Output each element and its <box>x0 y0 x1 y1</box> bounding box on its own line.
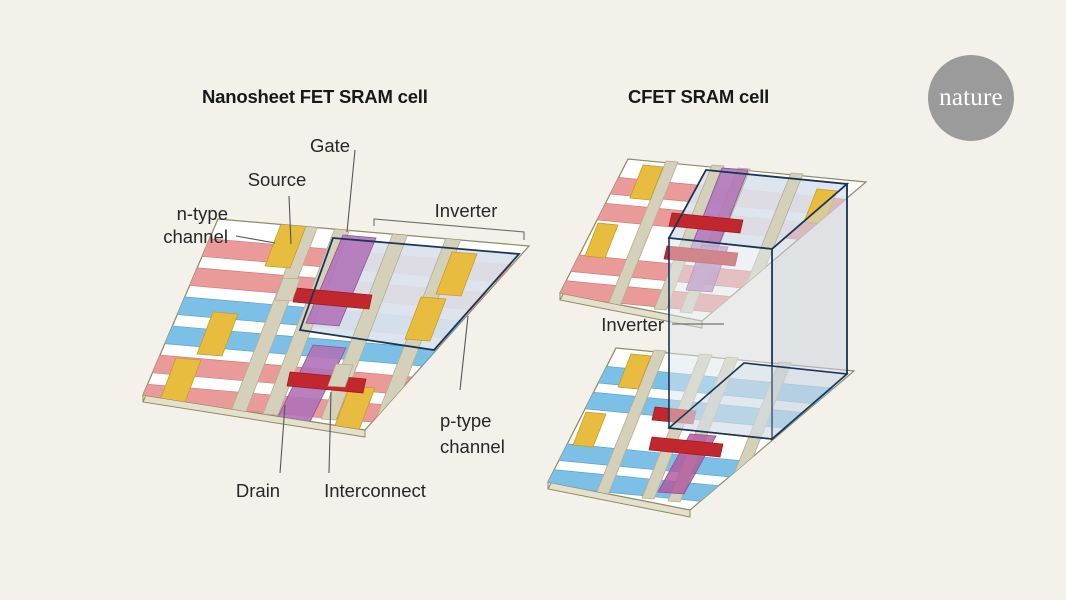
nature-logo-text: nature <box>939 84 1003 112</box>
schematic-svg: Nanosheet FET SRAM cell CFET SRAM cell <box>0 0 1066 600</box>
label-n-type-channel-line1: n-type <box>177 203 228 224</box>
label-inverter-right: Inverter <box>601 314 664 335</box>
panel-title-cfet: CFET SRAM cell <box>628 86 769 107</box>
figure-canvas: Nanosheet FET SRAM cell CFET SRAM cell <box>0 0 1066 600</box>
label-source: Source <box>248 169 307 190</box>
label-n-type-channel-line2: channel <box>163 226 228 247</box>
label-drain: Drain <box>236 480 280 501</box>
label-interconnect: Interconnect <box>324 480 426 501</box>
label-p-type-channel-line1: p-type <box>440 410 491 431</box>
nature-logo: nature <box>928 55 1014 141</box>
label-inverter-left: Inverter <box>435 200 498 221</box>
label-p-type-channel-line2: channel <box>440 436 505 457</box>
label-gate: Gate <box>310 135 350 156</box>
background <box>0 0 1066 600</box>
panel-title-nanosheet: Nanosheet FET SRAM cell <box>202 86 428 107</box>
nature-logo-circle: nature <box>928 55 1014 141</box>
